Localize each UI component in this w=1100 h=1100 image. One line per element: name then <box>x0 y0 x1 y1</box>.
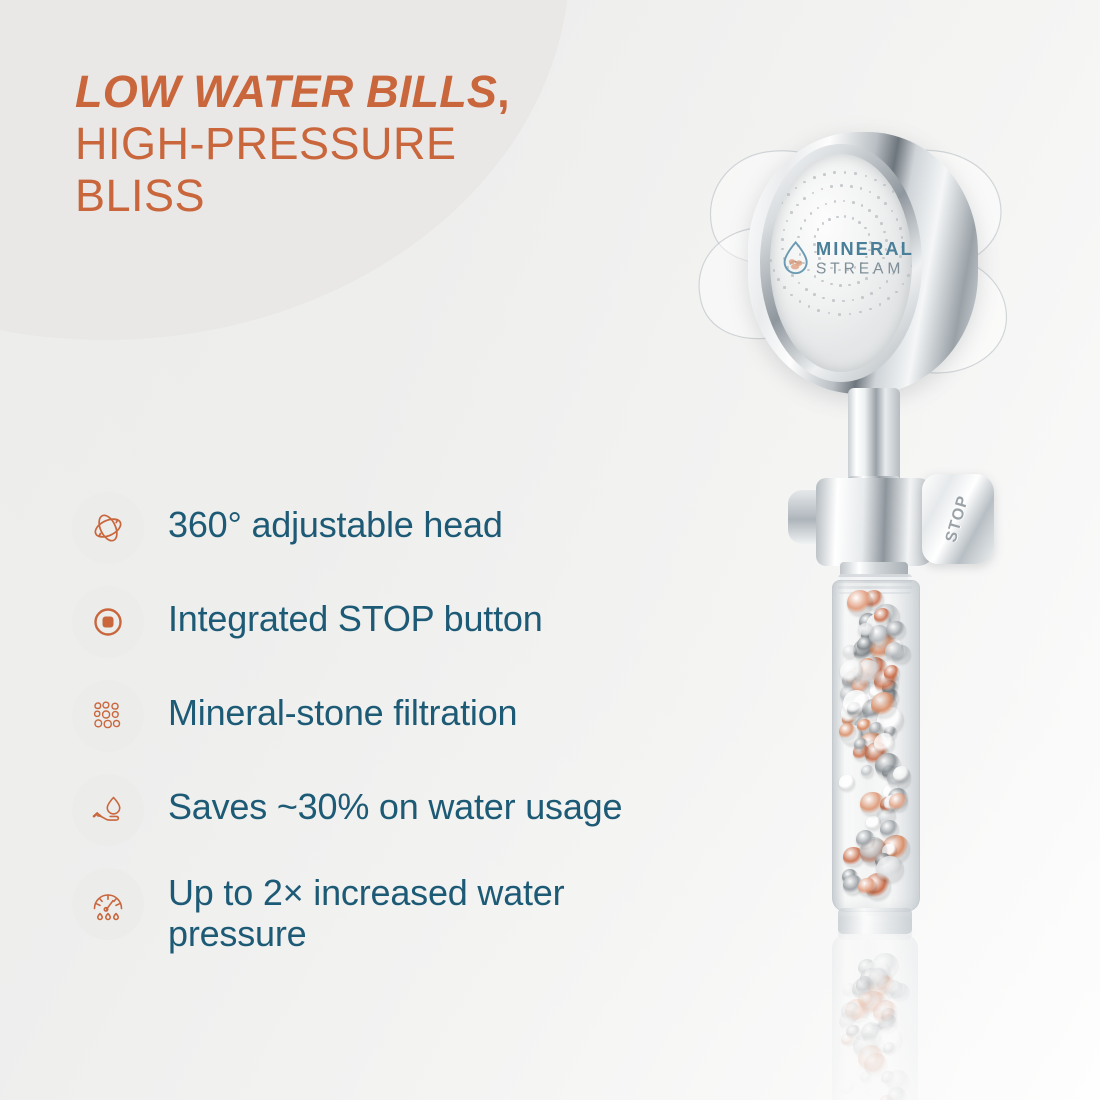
feature-list: 360° adjustable head Integrated STOP but… <box>72 492 712 955</box>
nozzle-holes <box>770 154 912 372</box>
mineral-stones-icon <box>72 680 144 752</box>
shower-head-faceplate <box>770 154 912 372</box>
headline-line-3: BLISS <box>75 170 595 222</box>
hand-water-drop-icon <box>72 774 144 846</box>
swivel-neck <box>848 388 900 484</box>
pressure-gauge-icon <box>72 868 144 940</box>
feature-label: Integrated STOP button <box>168 586 543 639</box>
feature-item-360-adjustable-head: 360° adjustable head <box>72 492 712 564</box>
feature-item-integrated-stop-button: Integrated STOP button <box>72 586 712 658</box>
feature-label: Mineral-stone filtration <box>168 680 517 733</box>
product-image: MINERAL STREAM STOP <box>672 110 1072 1100</box>
stop-button-label: STOP <box>943 493 974 544</box>
rotate-360-icon <box>72 492 144 564</box>
stop-button[interactable]: STOP <box>922 474 994 564</box>
headline: LOW WATER BILLS, HIGH-PRESSURE BLISS <box>75 66 595 223</box>
feature-item-mineral-stone-filtration: Mineral-stone filtration <box>72 680 712 752</box>
headline-line-1: LOW WATER BILLS, <box>75 66 595 118</box>
product-reflection <box>832 934 918 1100</box>
valve-housing <box>816 478 934 566</box>
feature-label: Up to 2× increased water pressure <box>168 868 688 955</box>
headline-line-1-text: LOW WATER BILLS <box>75 66 497 117</box>
feature-label: Saves ~30% on water usage <box>168 774 622 827</box>
product-feature-banner: LOW WATER BILLS, HIGH-PRESSURE BLISS 360… <box>0 0 1100 1100</box>
headline-comma: , <box>497 66 510 117</box>
feature-item-saves-water-usage: Saves ~30% on water usage <box>72 774 712 846</box>
shower-head <box>748 132 978 394</box>
feature-item-increased-water-pressure: Up to 2× increased water pressure <box>72 868 712 955</box>
stop-button-icon <box>72 586 144 658</box>
feature-label: 360° adjustable head <box>168 492 503 545</box>
headline-line-2: HIGH-PRESSURE <box>75 118 595 170</box>
mineral-filter-chamber <box>832 580 920 912</box>
